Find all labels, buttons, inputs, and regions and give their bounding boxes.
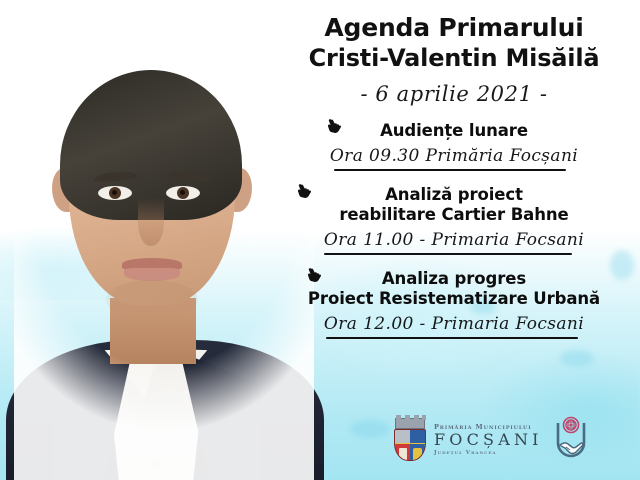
logo-line-main: FOCȘANI — [434, 432, 543, 448]
agenda-item-headline-line1: Audiențe lunare — [380, 121, 528, 140]
agenda-item-headline-line2: Proiect Resistematizare Urbană — [268, 289, 640, 309]
agenda-item: Audiențe lunare Ora 09.30 Primăria Focșa… — [268, 121, 640, 171]
agenda-item-detail: Ora 09.30 Primăria Focșani — [268, 144, 640, 168]
agenda-item-rule — [326, 337, 578, 339]
agenda-item-rule — [324, 253, 572, 255]
logo-line-bottom: Județul Vrancea — [434, 451, 543, 457]
agenda-item-headline-line1: Analiza progres — [382, 269, 526, 288]
handshake-emblem-icon — [549, 415, 593, 465]
poster-title-line2: Cristi-Valentin Misăilă — [268, 43, 640, 74]
focsani-coat-of-arms-icon — [392, 418, 428, 462]
pointing-hand-icon — [326, 118, 344, 136]
agenda-item-rule — [334, 169, 566, 171]
agenda-item-headline: Analiza progres Proiect Resistematizare … — [268, 269, 640, 309]
agenda-poster: Agenda Primarului Cristi-Valentin Misăil… — [0, 0, 640, 480]
title-block: Agenda Primarului Cristi-Valentin Misăil… — [268, 0, 640, 109]
agenda-item-headline-line2: reabilitare Cartier Bahne — [268, 205, 640, 225]
agenda-item-detail: Ora 11.00 - Primaria Focsani — [268, 228, 640, 252]
crest-shield — [394, 429, 426, 461]
agenda-item: Analiză proiect reabilitare Cartier Bahn… — [268, 185, 640, 255]
pointing-hand-icon — [306, 267, 324, 285]
agenda-item-headline: Audiențe lunare — [268, 121, 640, 141]
poster-title-line1: Agenda Primarului — [268, 12, 640, 43]
pointing-hand-icon — [296, 183, 314, 201]
content-column: Agenda Primarului Cristi-Valentin Misăil… — [268, 0, 640, 480]
poster-date: - 6 aprilie 2021 - — [268, 79, 640, 109]
agenda-item-detail: Ora 12.00 - Primaria Focsani — [268, 312, 640, 336]
agenda-item-headline: Analiză proiect reabilitare Cartier Bahn… — [268, 185, 640, 225]
logo-wordmark: Primăria Municipiului FOCȘANI Județul Vr… — [434, 424, 543, 457]
agenda-item-headline-line1: Analiză proiect — [385, 185, 523, 204]
crest-mural-crown — [395, 418, 425, 429]
municipality-logo: Primăria Municipiului FOCȘANI Județul Vr… — [392, 409, 564, 471]
agenda-list: Audiențe lunare Ora 09.30 Primăria Focșa… — [268, 121, 640, 339]
agenda-item: Analiza progres Proiect Resistematizare … — [268, 269, 640, 339]
